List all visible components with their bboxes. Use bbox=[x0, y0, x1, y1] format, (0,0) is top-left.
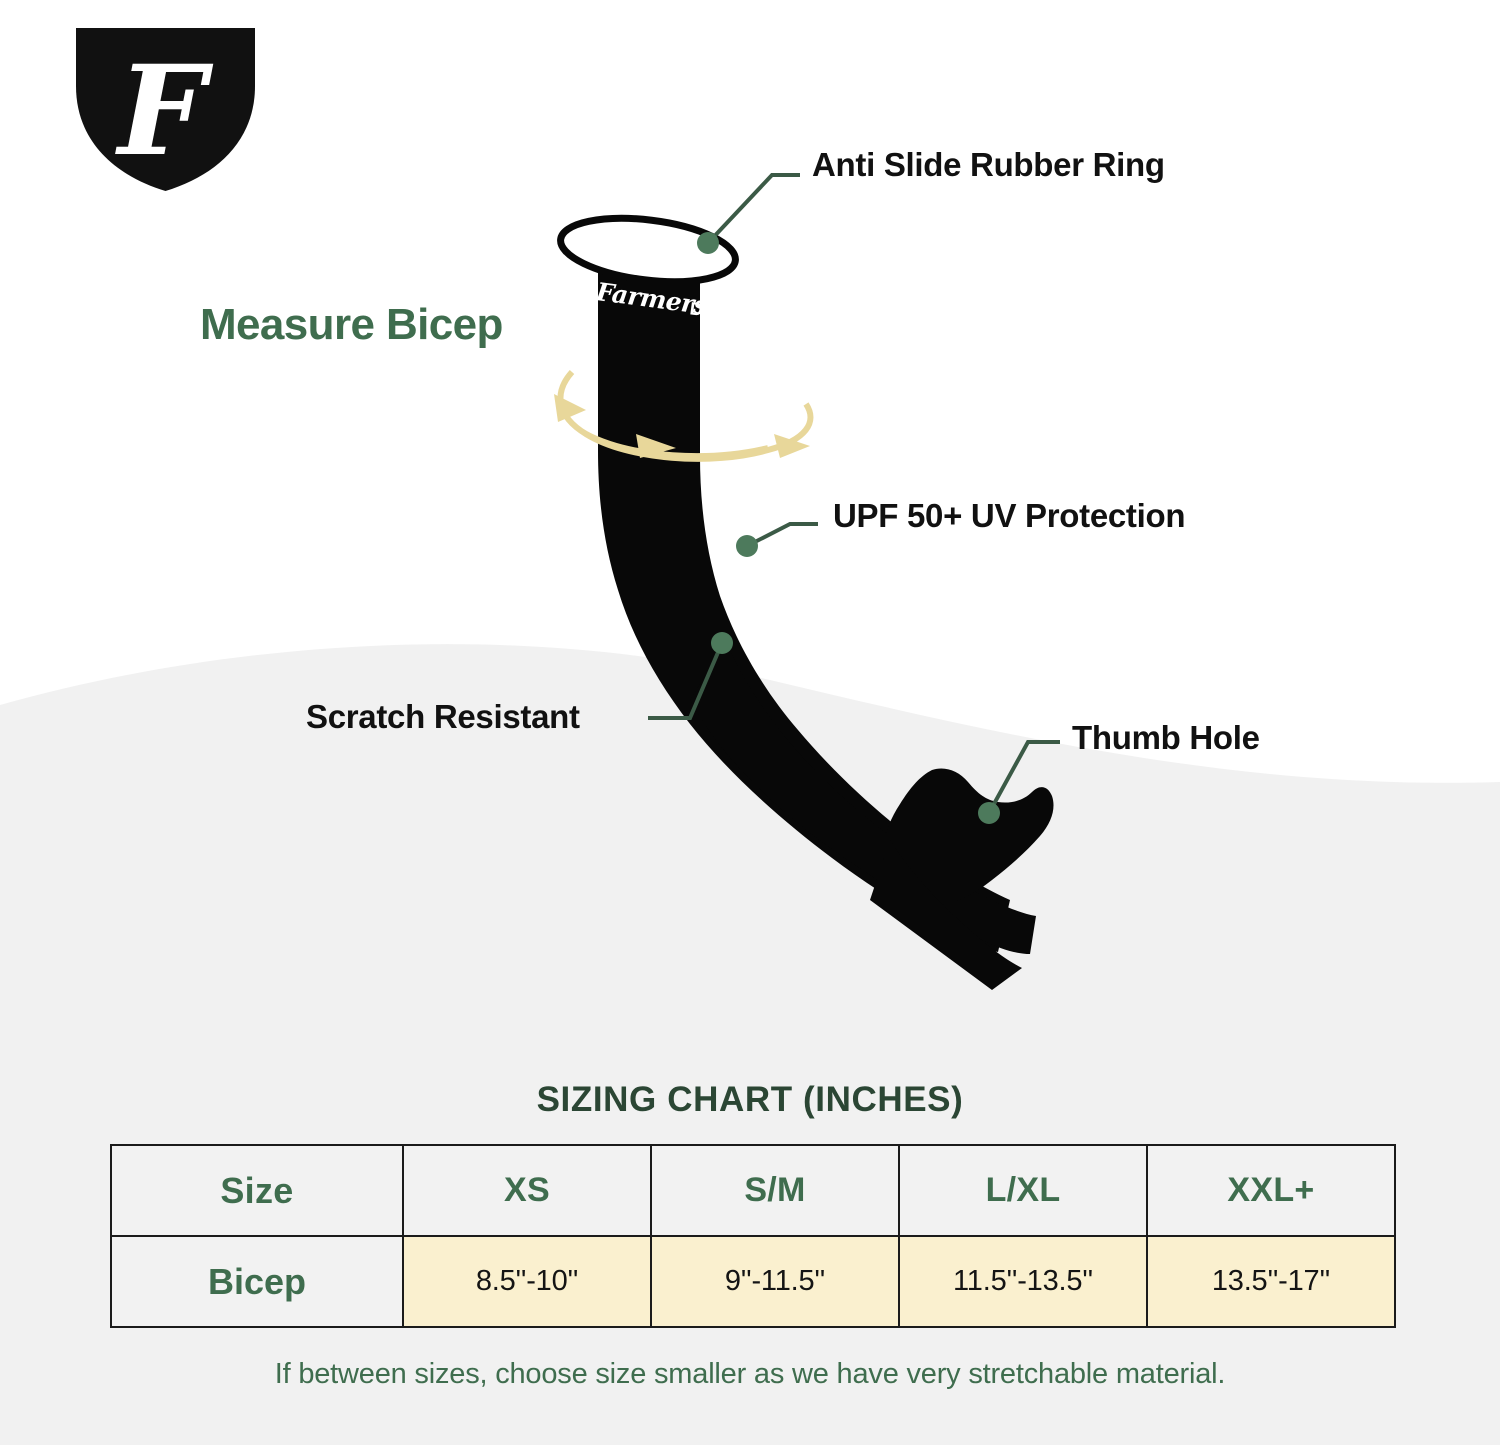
sizing-chart-note: If between sizes, choose size smaller as… bbox=[0, 1358, 1500, 1391]
table-header-lxl: L/XL bbox=[899, 1145, 1147, 1236]
callout-label-thumb: Thumb Hole bbox=[1072, 719, 1260, 757]
sizing-chart-title: SIZING CHART (INCHES) bbox=[0, 1080, 1500, 1120]
table-header-size: Size bbox=[111, 1145, 403, 1236]
measure-bicep-label: Measure Bicep bbox=[200, 300, 503, 350]
callout-label-upf: UPF 50+ UV Protection bbox=[833, 497, 1185, 535]
table-cell-bicep-lxl: 11.5''-13.5'' bbox=[899, 1236, 1147, 1327]
table-header-xs: XS bbox=[403, 1145, 651, 1236]
logo-letter: F bbox=[115, 39, 214, 184]
table-row-label-bicep: Bicep bbox=[111, 1236, 403, 1327]
arm-sleeve-illustration bbox=[540, 200, 1060, 990]
table-header-row: Size XS S/M L/XL XXL+ bbox=[111, 1145, 1395, 1236]
shield-logo-icon: F bbox=[58, 14, 273, 204]
table-cell-bicep-sm: 9''-11.5'' bbox=[651, 1236, 899, 1327]
sizing-chart-table: Size XS S/M L/XL XXL+ Bicep 8.5''-10'' 9… bbox=[110, 1144, 1396, 1328]
callout-label-scratch: Scratch Resistant bbox=[306, 698, 580, 736]
table-cell-bicep-xs: 8.5''-10'' bbox=[403, 1236, 651, 1327]
table-cell-bicep-xxl: 13.5''-17'' bbox=[1147, 1236, 1395, 1327]
table-header-xxl: XXL+ bbox=[1147, 1145, 1395, 1236]
product-infographic: F Farmers DEFENSE bbox=[0, 0, 1500, 1445]
callout-label-anti-slide: Anti Slide Rubber Ring bbox=[812, 146, 1165, 184]
table-row: Bicep 8.5''-10'' 9''-11.5'' 11.5''-13.5'… bbox=[111, 1236, 1395, 1327]
table-header-sm: S/M bbox=[651, 1145, 899, 1236]
